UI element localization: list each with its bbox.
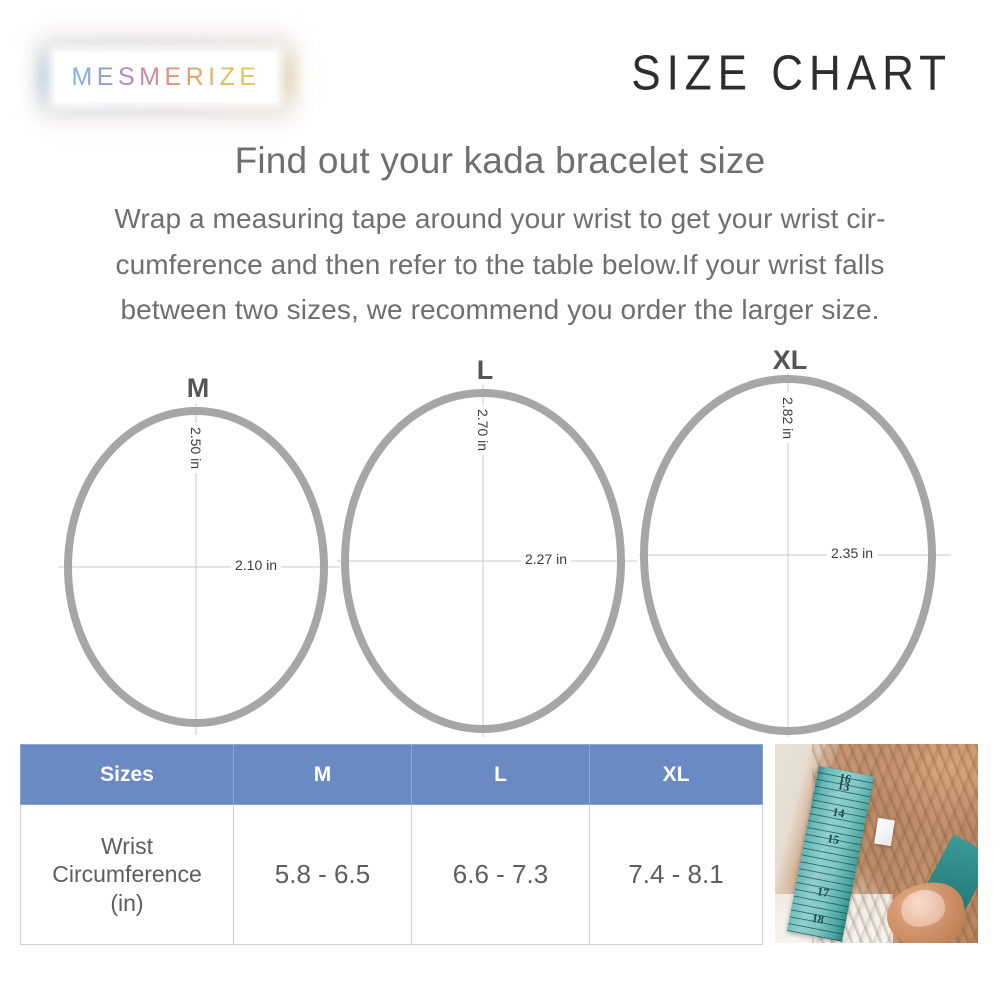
cell-wrist-m: 5.8 - 6.5 [234, 805, 412, 945]
brand-logo-text: MESMERIZE [71, 63, 260, 92]
row-label-line-2: Circumference [22, 860, 232, 888]
table-header-m: M [234, 745, 412, 805]
diagram-size-m: M 2.50 in 2.10 in [48, 345, 348, 745]
intro-body: Wrap a measuring tape around your wrist … [0, 196, 1000, 332]
diagram-height-l: 2.70 in [475, 405, 491, 455]
table-header-row: Sizes M L XL [21, 745, 763, 805]
table-row: Wrist Circumference (in) 5.8 - 6.5 6.6 -… [21, 805, 763, 945]
cell-wrist-xl: 7.4 - 8.1 [590, 805, 763, 945]
ellipse-m [48, 345, 348, 745]
wrist-measurement-photo: 13 14 15 16 17 18 [775, 744, 978, 943]
row-label-line-1: Wrist [22, 832, 232, 860]
diagram-width-l: 2.27 in [521, 551, 571, 567]
diagram-width-m: 2.10 in [231, 557, 281, 573]
diagram-height-m: 2.50 in [188, 423, 204, 473]
diagram-size-l: L 2.70 in 2.27 in [325, 345, 645, 745]
intro-heading: Find out your kada bracelet size [0, 138, 1000, 184]
row-label-wrist-circumference: Wrist Circumference (in) [21, 805, 234, 945]
diagram-height-xl: 2.82 in [780, 393, 796, 443]
diagram-width-xl: 2.35 in [827, 545, 877, 561]
intro-body-line-3: between two sizes, we recommend you orde… [0, 287, 1000, 332]
intro-body-line-2: cumference and then refer to the table b… [0, 242, 1000, 287]
page-title: SIZE CHART [631, 46, 952, 102]
table-header-xl: XL [590, 745, 763, 805]
intro-body-line-1: Wrap a measuring tape around your wrist … [0, 196, 1000, 241]
diagram-label-m: M [48, 373, 348, 404]
cell-wrist-l: 6.6 - 7.3 [412, 805, 590, 945]
size-table: Sizes M L XL Wrist Circumference (in) 5.… [20, 744, 763, 945]
table-header-l: L [412, 745, 590, 805]
diagram-label-l: L [325, 355, 645, 386]
diagram-label-xl: XL [625, 345, 955, 376]
brand-logo: MESMERIZE [55, 52, 277, 102]
size-diagrams: M 2.50 in 2.10 in L 2.70 in 2.27 in XL 2… [0, 345, 1000, 745]
page-header: MESMERIZE SIZE CHART [0, 0, 1000, 130]
intro-section: Find out your kada bracelet size Wrap a … [0, 138, 1000, 332]
table-header-sizes: Sizes [21, 745, 234, 805]
diagram-size-xl: XL 2.82 in 2.35 in [625, 345, 965, 745]
row-label-line-3: (in) [22, 889, 232, 917]
